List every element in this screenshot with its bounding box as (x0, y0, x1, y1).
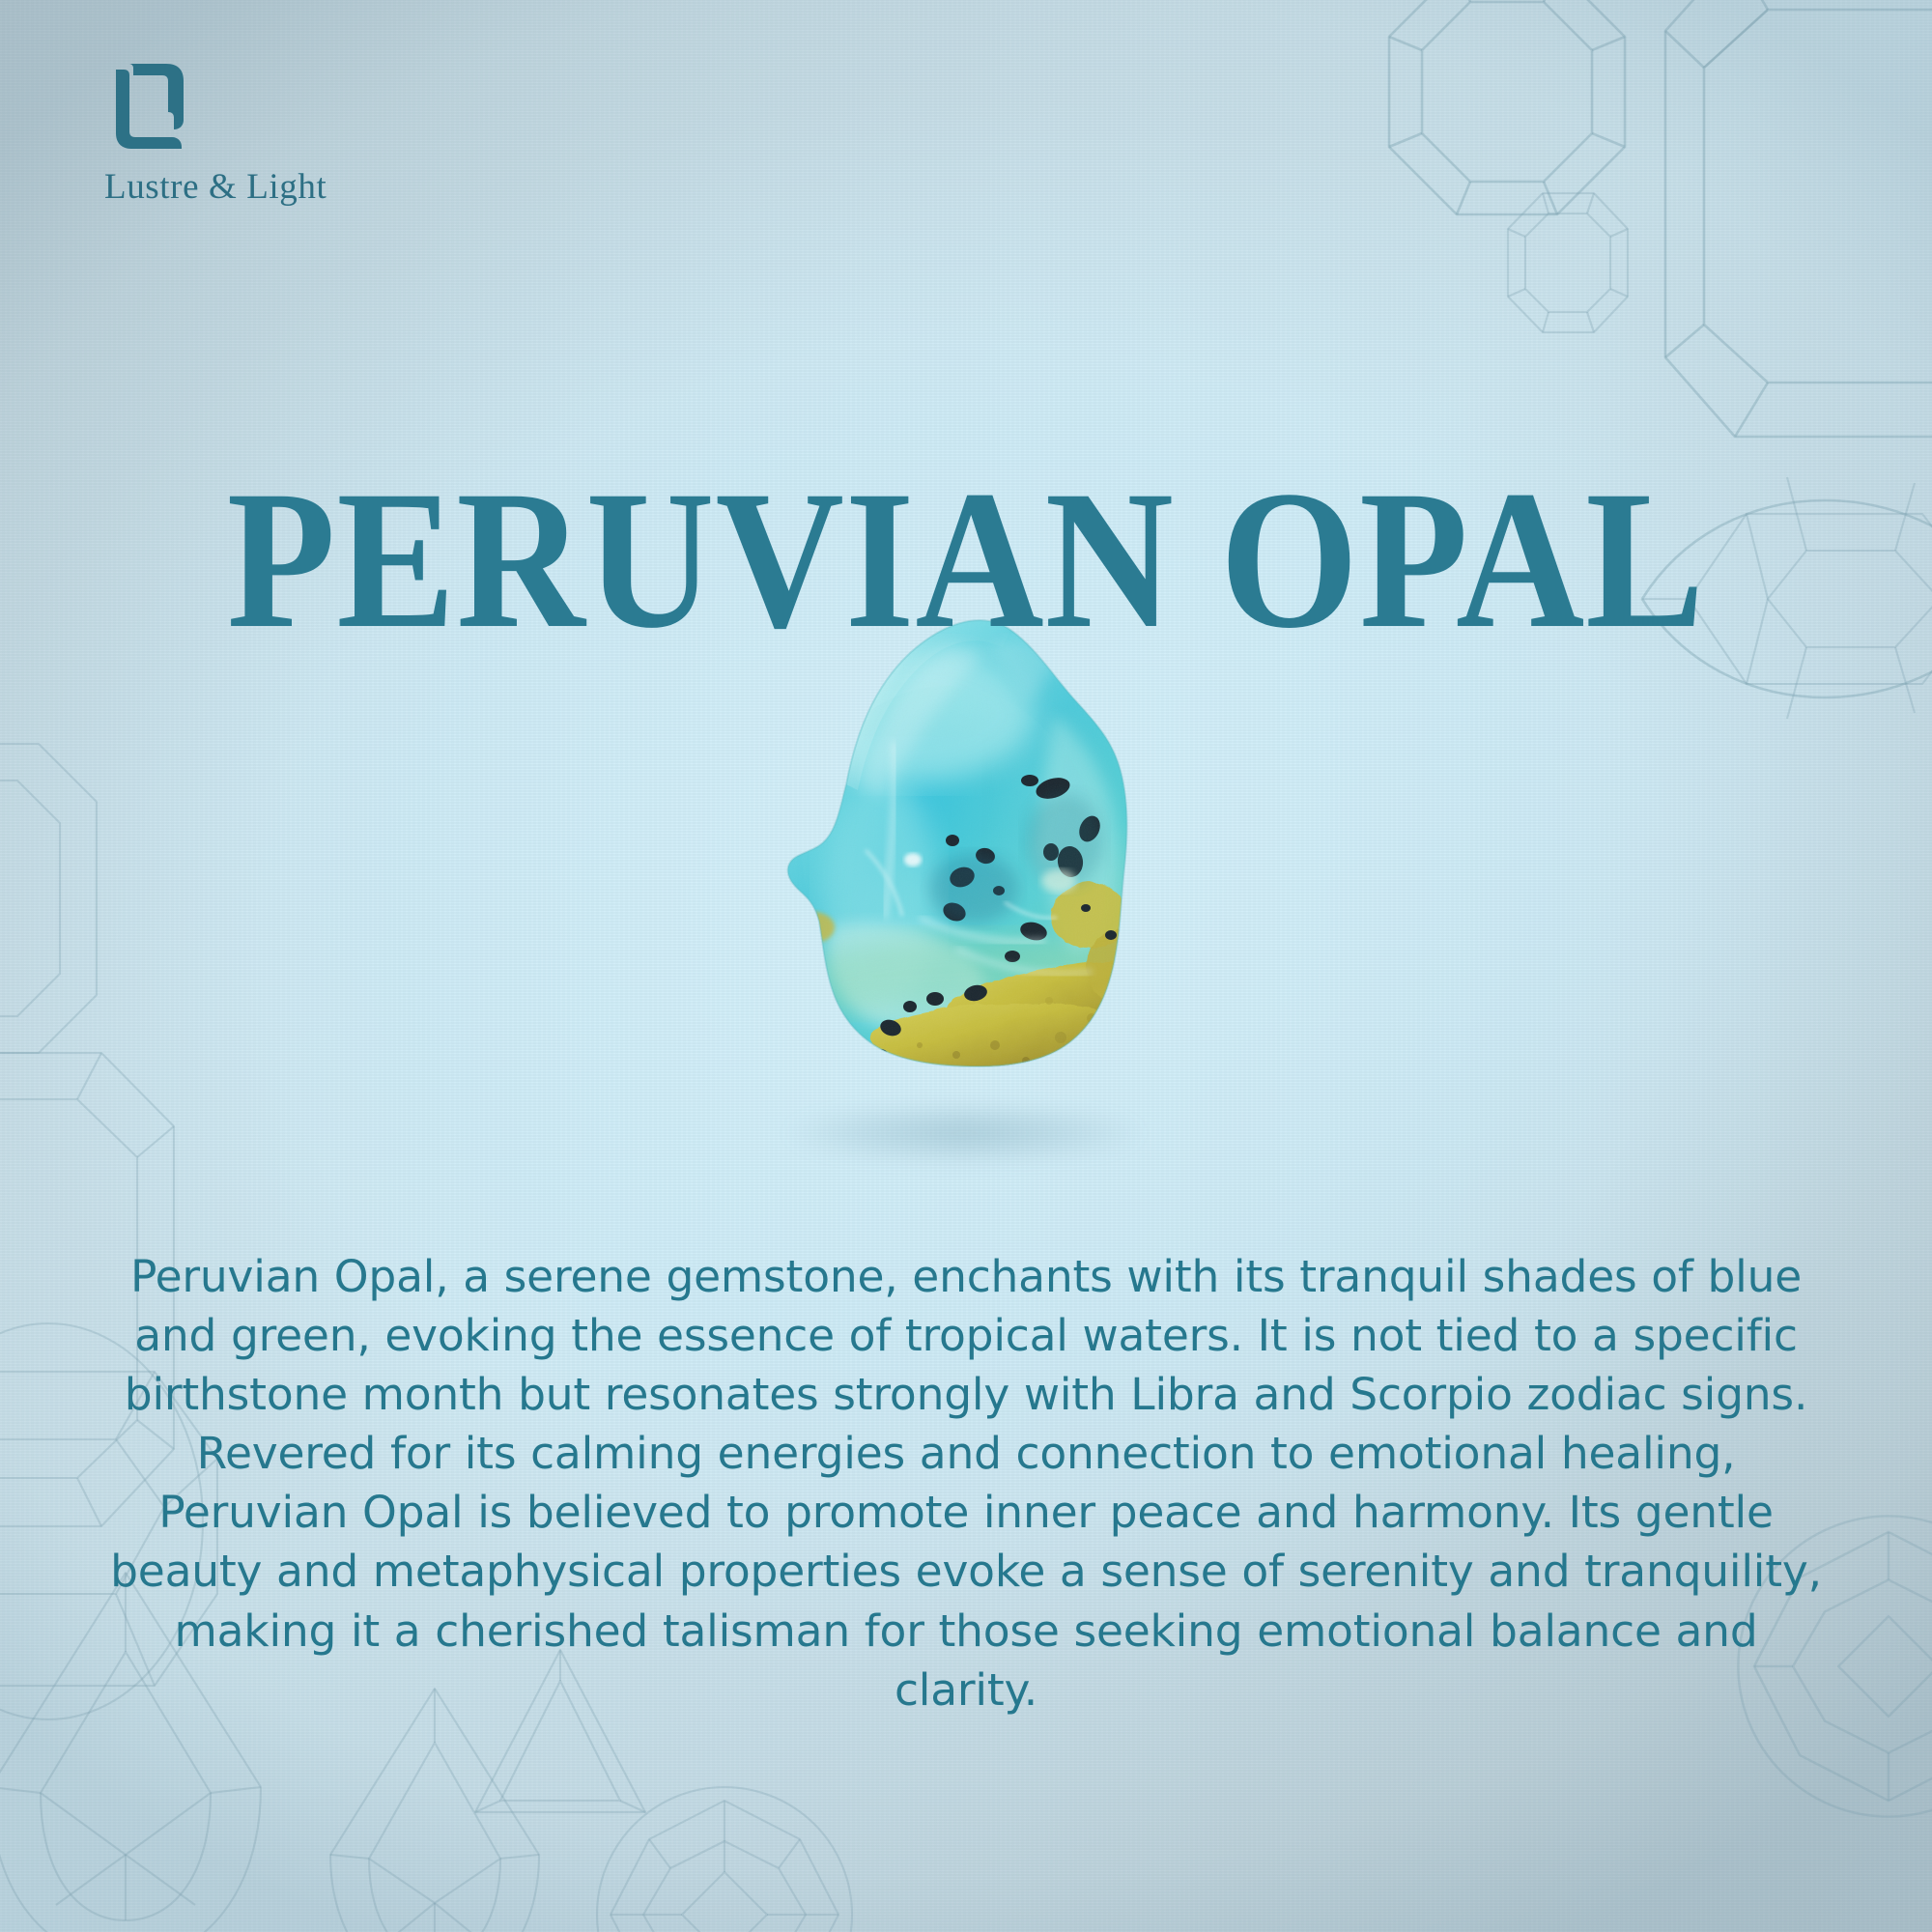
gemstone-description: Peruvian Opal, a serene gemstone, enchan… (106, 1247, 1826, 1720)
page-title: PERUVIAN OPAL (97, 461, 1835, 659)
peruvian-opal-gemstone-image (667, 609, 1265, 1169)
poster-canvas: Lustre & Light PERUVIAN OPAL (0, 0, 1932, 1932)
gemstone-image-container (0, 609, 1932, 1169)
small-octagon-gem-outline (1502, 188, 1633, 338)
emerald-cut-gem-outline (1660, 0, 1932, 464)
lustre-and-light-monogram-icon (112, 60, 187, 153)
pear-cut-gem-outline (290, 1683, 580, 1932)
round-brilliant-gem-outline (589, 1779, 860, 1932)
brand-logo[interactable]: Lustre & Light (104, 60, 327, 208)
brand-name: Lustre & Light (104, 166, 327, 208)
octagon-cut-gem-outline (1381, 0, 1633, 251)
